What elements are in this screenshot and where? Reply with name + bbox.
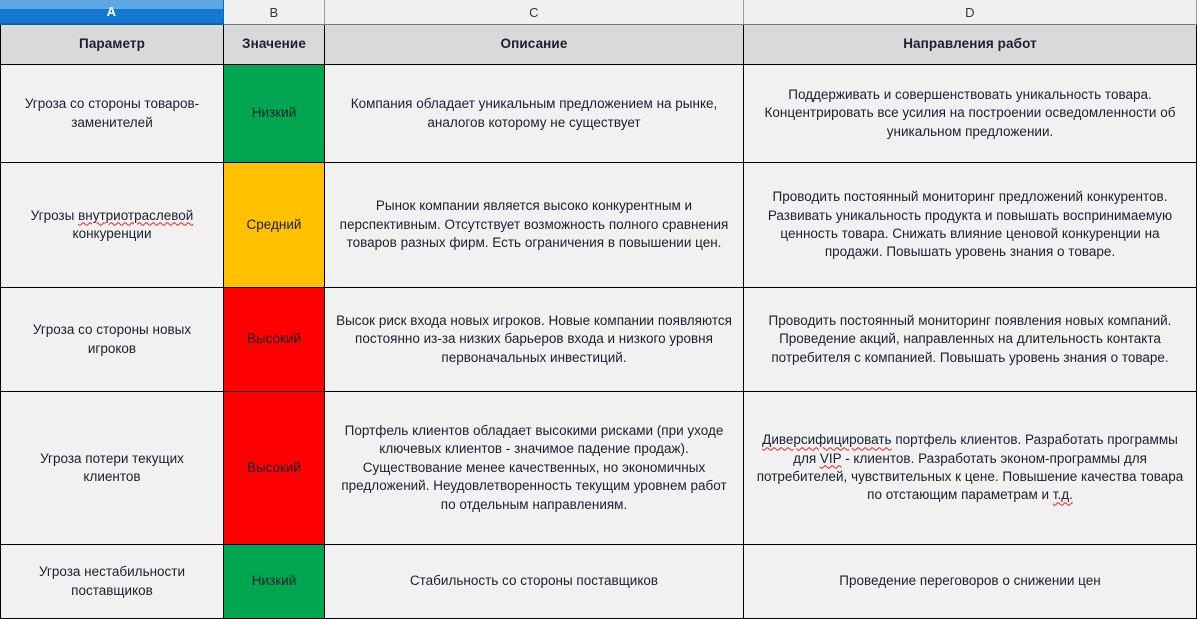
cell-description[interactable]: Компания обладает уникальным предложение… [325, 65, 744, 163]
cell-parameter-text: Угрозы внутриотраслевой конкуренции [10, 207, 214, 244]
cell-parameter[interactable]: Угроза со стороны новых игроков [0, 288, 224, 392]
table-header-row: Параметр Значение Описание Направления р… [0, 25, 1197, 65]
spreadsheet-sheet: A B C D Параметр Значение Описание Напра… [0, 0, 1197, 619]
spellcheck-word: т.д. [1053, 487, 1073, 502]
cell-parameter[interactable]: Угроза со стороны товаров-заменителей [0, 65, 224, 163]
column-header-d[interactable]: D [744, 0, 1197, 25]
table-row[interactable]: Угрозы внутриотраслевой конкуренции Сред… [0, 163, 1197, 288]
table-row[interactable]: Угроза нестабильности поставщиков Низкий… [0, 545, 1197, 619]
cell-directions[interactable]: Проведение переговоров о снижении цен [744, 545, 1197, 619]
column-header-a-label: A [107, 4, 117, 19]
cell-directions[interactable]: Диверсифицировать портфель клиентов. Раз… [744, 392, 1197, 545]
cell-value-level[interactable]: Высокий [224, 392, 325, 545]
cell-directions-text: Диверсифицировать портфель клиентов. Раз… [753, 431, 1187, 504]
cell-directions[interactable]: Поддерживать и совершенствовать уникальн… [744, 65, 1197, 163]
table-row[interactable]: Угроза потери текущих клиентов Высокий П… [0, 392, 1197, 545]
column-header-c-label: C [529, 5, 539, 20]
column-header-row: A B C D [0, 0, 1197, 25]
table-row[interactable]: Угроза со стороны новых игроков Высокий … [0, 288, 1197, 392]
column-header-c[interactable]: C [325, 0, 744, 25]
cell-description[interactable]: Высок риск входа новых игроков. Новые ко… [325, 288, 744, 392]
cell-parameter[interactable]: Угроза нестабильности поставщиков [0, 545, 224, 619]
cell-description[interactable]: Стабильность со стороны поставщиков [325, 545, 744, 619]
spellcheck-word: VIP [820, 451, 842, 466]
column-header-d-label: D [965, 5, 975, 20]
cell-value-level[interactable]: Средний [224, 163, 325, 288]
table-header-parameter: Параметр [0, 25, 224, 65]
cell-value-level[interactable]: Высокий [224, 288, 325, 392]
table-header-description: Описание [325, 25, 744, 65]
cell-parameter[interactable]: Угрозы внутриотраслевой конкуренции [0, 163, 224, 288]
spellcheck-word: внутриотраслевой [78, 208, 193, 223]
table-header-directions: Направления работ [744, 25, 1197, 65]
table-grid: Параметр Значение Описание Направления р… [0, 25, 1197, 619]
column-header-b[interactable]: B [224, 0, 325, 25]
column-header-a[interactable]: A [0, 0, 224, 25]
column-header-b-label: B [269, 5, 278, 20]
table-row[interactable]: Угроза со стороны товаров-заменителей Ни… [0, 65, 1197, 163]
cell-parameter[interactable]: Угроза потери текущих клиентов [0, 392, 224, 545]
spellcheck-word: Диверсифицировать [762, 432, 891, 447]
cell-value-level[interactable]: Низкий [224, 545, 325, 619]
cell-description[interactable]: Портфель клиентов обладает высокими риск… [325, 392, 744, 545]
cell-value-level[interactable]: Низкий [224, 65, 325, 163]
cell-directions[interactable]: Проводить постоянный мониторинг появлени… [744, 288, 1197, 392]
table-header-value: Значение [224, 25, 325, 65]
cell-directions[interactable]: Проводить постоянный мониторинг предложе… [744, 163, 1197, 288]
cell-description[interactable]: Рынок компании является высоко конкурент… [325, 163, 744, 288]
